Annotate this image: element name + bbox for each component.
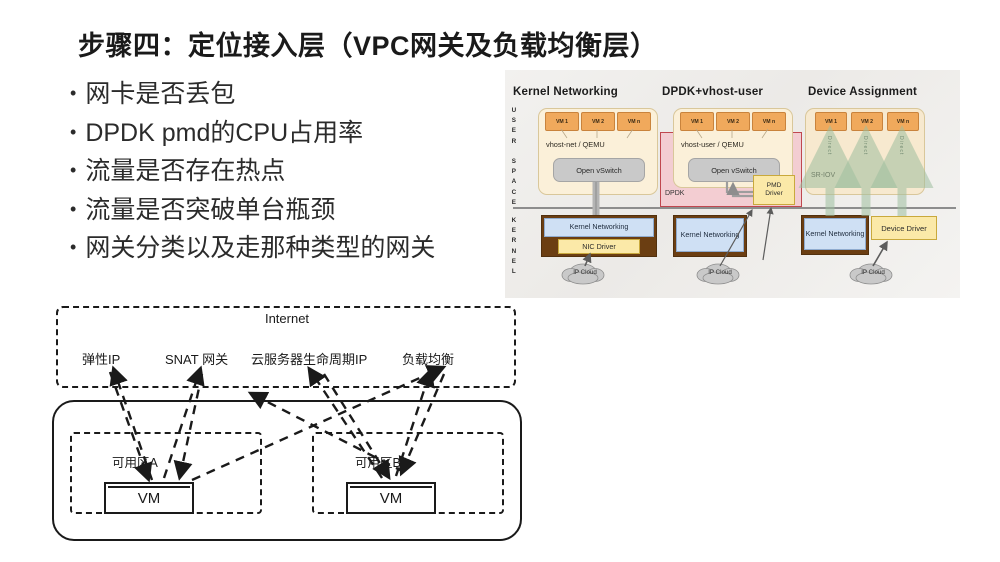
gateway-label-lifecycle-ip: 云服务器生命周期IP <box>251 349 367 368</box>
internet-label: Internet <box>52 311 522 326</box>
bullet-marker-icon: • <box>70 84 76 102</box>
bullet-text: 流量是否存在热点 <box>85 157 285 187</box>
gateway-label-snat: SNAT 网关 <box>165 349 228 368</box>
ip-cloud-label: IP Cloud <box>853 269 893 276</box>
gateway-label-load-balancer: 负载均衡 <box>402 349 454 368</box>
bullet-marker-icon: • <box>70 123 76 141</box>
list-item: • 网卡是否丢包 <box>70 80 520 110</box>
virtio-architecture-diagram: Kernel Networking DPDK+vhost-user Device… <box>505 70 960 298</box>
page-title: 步骤四：定位接入层（VPC网关及负载均衡层） <box>78 24 658 63</box>
list-item: • 流量是否突破单台瓶颈 <box>70 196 520 226</box>
bullet-marker-icon: • <box>70 238 76 256</box>
bullet-marker-icon: • <box>70 161 76 179</box>
vm-instance-b: VM <box>346 482 436 514</box>
vpc-topology-diagram: Internet 弹性IP SNAT 网关 云服务器生命周期IP 负载均衡 可用… <box>52 300 522 550</box>
ip-cloud-label: IP Cloud <box>700 269 740 276</box>
tech-diagram-connectors <box>505 70 960 298</box>
bullet-list: • 网卡是否丢包 • DPDK pmd的CPU占用率 • 流量是否存在热点 • … <box>70 80 520 273</box>
availability-zone-a-label: 可用区A <box>112 452 158 471</box>
gateway-label-elastic-ip: 弹性IP <box>82 349 120 368</box>
list-item: • 流量是否存在热点 <box>70 157 520 187</box>
vm-instance-a: VM <box>104 482 194 514</box>
bullet-text: 流量是否突破单台瓶颈 <box>85 196 335 226</box>
slide-canvas: 步骤四：定位接入层（VPC网关及负载均衡层） • 网卡是否丢包 • DPDK p… <box>0 0 1000 562</box>
list-item: • 网关分类以及走那种类型的网关 <box>70 234 520 264</box>
bullet-text: DPDK pmd的CPU占用率 <box>85 119 363 149</box>
availability-zone-b-label: 可用区B <box>355 452 401 471</box>
ip-cloud-label: IP Cloud <box>565 269 605 276</box>
bullet-text: 网关分类以及走那种类型的网关 <box>85 234 435 264</box>
list-item: • DPDK pmd的CPU占用率 <box>70 119 520 149</box>
bullet-marker-icon: • <box>70 200 76 218</box>
bullet-text: 网卡是否丢包 <box>85 80 235 110</box>
